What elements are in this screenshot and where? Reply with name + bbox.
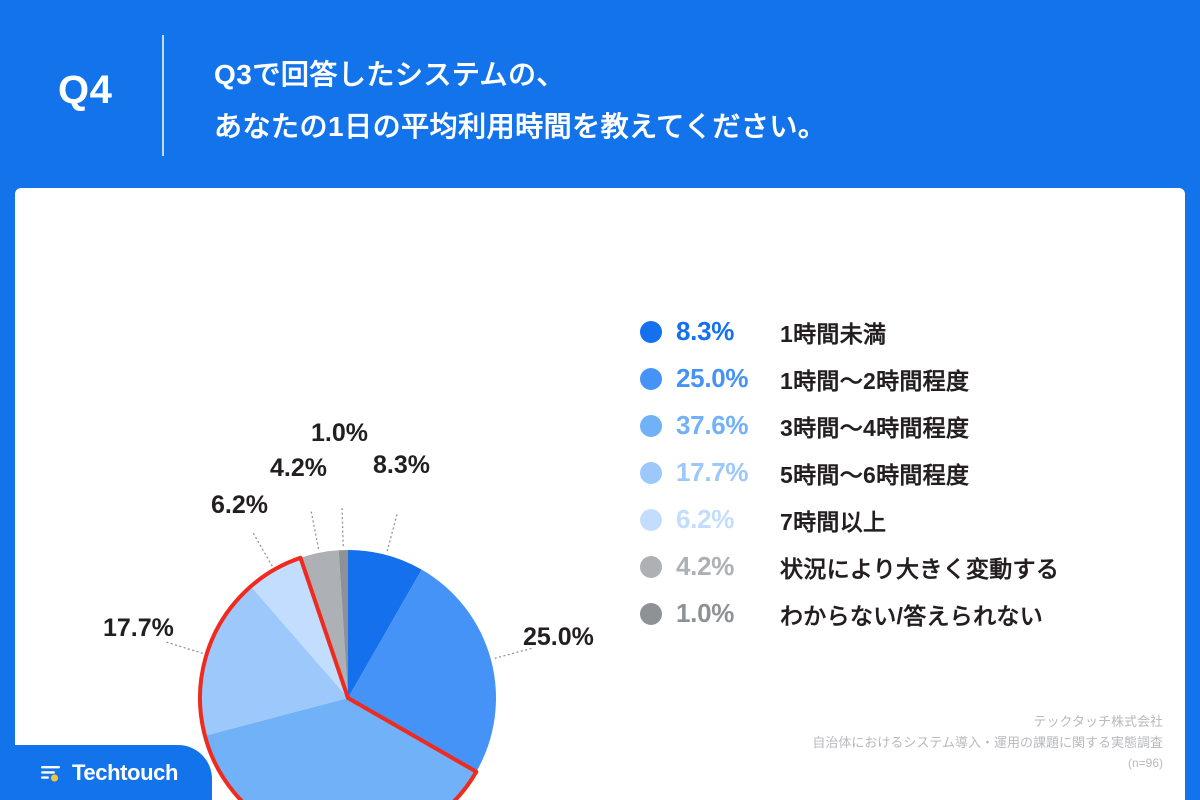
leader-line — [311, 510, 319, 549]
legend-percentage: 37.6% — [676, 410, 780, 441]
page-title-line-2: あなたの1日の平均利用時間を教えてください。 — [214, 101, 1114, 153]
legend-color-swatch-icon — [640, 603, 662, 625]
legend-label: わからない/答えられない — [780, 597, 1043, 631]
legend-color-swatch-icon — [640, 368, 662, 390]
callout-17-7: 17.7% — [103, 616, 174, 641]
brand-logo: Techtouch — [15, 745, 212, 800]
legend-label: 1時間〜2時間程度 — [780, 362, 969, 396]
callout-1-0: 1.0% — [311, 421, 368, 446]
legend-item[interactable]: 17.7%5時間〜6時間程度 — [640, 449, 1185, 496]
legend-item[interactable]: 25.0%1時間〜2時間程度 — [640, 355, 1185, 402]
techtouch-lines-dot-icon — [41, 763, 65, 783]
legend-label: 3時間〜4時間程度 — [780, 409, 969, 443]
callout-4-2: 4.2% — [270, 456, 327, 481]
legend-item[interactable]: 6.2%7時間以上 — [640, 496, 1185, 543]
footer-sample-size: (n=96) — [812, 753, 1163, 774]
legend-item[interactable]: 1.0%わからない/答えられない — [640, 590, 1185, 637]
pie-chart-svg — [15, 188, 635, 800]
page-title: Q3で回答したシステムの、 あなたの1日の平均利用時間を教えてください。 — [214, 49, 1114, 153]
pie-chart: 1.0%4.2%8.3%6.2%17.7%25.0%37.6% — [15, 188, 635, 800]
legend-item[interactable]: 4.2%状況により大きく変動する — [640, 543, 1185, 590]
legend-percentage: 4.2% — [676, 551, 780, 582]
legend-label: 状況により大きく変動する — [780, 550, 1059, 584]
content-card: 1.0%4.2%8.3%6.2%17.7%25.0%37.6% 8.3%1時間未… — [15, 188, 1185, 800]
legend-label: 1時間未満 — [780, 315, 886, 349]
legend-color-swatch-icon — [640, 321, 662, 343]
legend-label: 7時間以上 — [780, 503, 886, 537]
legend-color-swatch-icon — [640, 462, 662, 484]
legend-percentage: 6.2% — [676, 504, 780, 535]
legend-percentage: 8.3% — [676, 316, 780, 347]
leader-line — [342, 506, 343, 546]
header-divider — [162, 35, 164, 156]
question-number: Q4 — [58, 70, 112, 110]
legend-label: 5時間〜6時間程度 — [780, 456, 969, 490]
legend-percentage: 1.0% — [676, 598, 780, 629]
legend-color-swatch-icon — [640, 556, 662, 578]
brand-logo-text: Techtouch — [72, 760, 178, 786]
legend-color-swatch-icon — [640, 509, 662, 531]
callout-25-0: 25.0% — [523, 625, 594, 650]
footer-company: テックタッチ株式会社 — [812, 711, 1163, 732]
chart-legend: 8.3%1時間未満25.0%1時間〜2時間程度37.6%3時間〜4時間程度17.… — [640, 308, 1185, 637]
footer-survey: 自治体におけるシステム導入・運用の課題に関する実態調査 — [812, 732, 1163, 753]
legend-item[interactable]: 8.3%1時間未満 — [640, 308, 1185, 355]
legend-percentage: 25.0% — [676, 363, 780, 394]
footer-credits: テックタッチ株式会社 自治体におけるシステム導入・運用の課題に関する実態調査 (… — [812, 711, 1163, 774]
pie-slices — [200, 550, 496, 800]
legend-percentage: 17.7% — [676, 457, 780, 488]
callout-6-2: 6.2% — [211, 493, 268, 518]
leader-line — [252, 532, 272, 567]
page-title-line-1: Q3で回答したシステムの、 — [214, 49, 1114, 101]
leader-line — [164, 642, 202, 654]
leader-line — [387, 512, 397, 551]
legend-item[interactable]: 37.6%3時間〜4時間程度 — [640, 402, 1185, 449]
legend-color-swatch-icon — [640, 415, 662, 437]
callout-8-3: 8.3% — [373, 453, 430, 478]
header-banner: Q4 Q3で回答したシステムの、 あなたの1日の平均利用時間を教えてください。 — [0, 0, 1200, 188]
